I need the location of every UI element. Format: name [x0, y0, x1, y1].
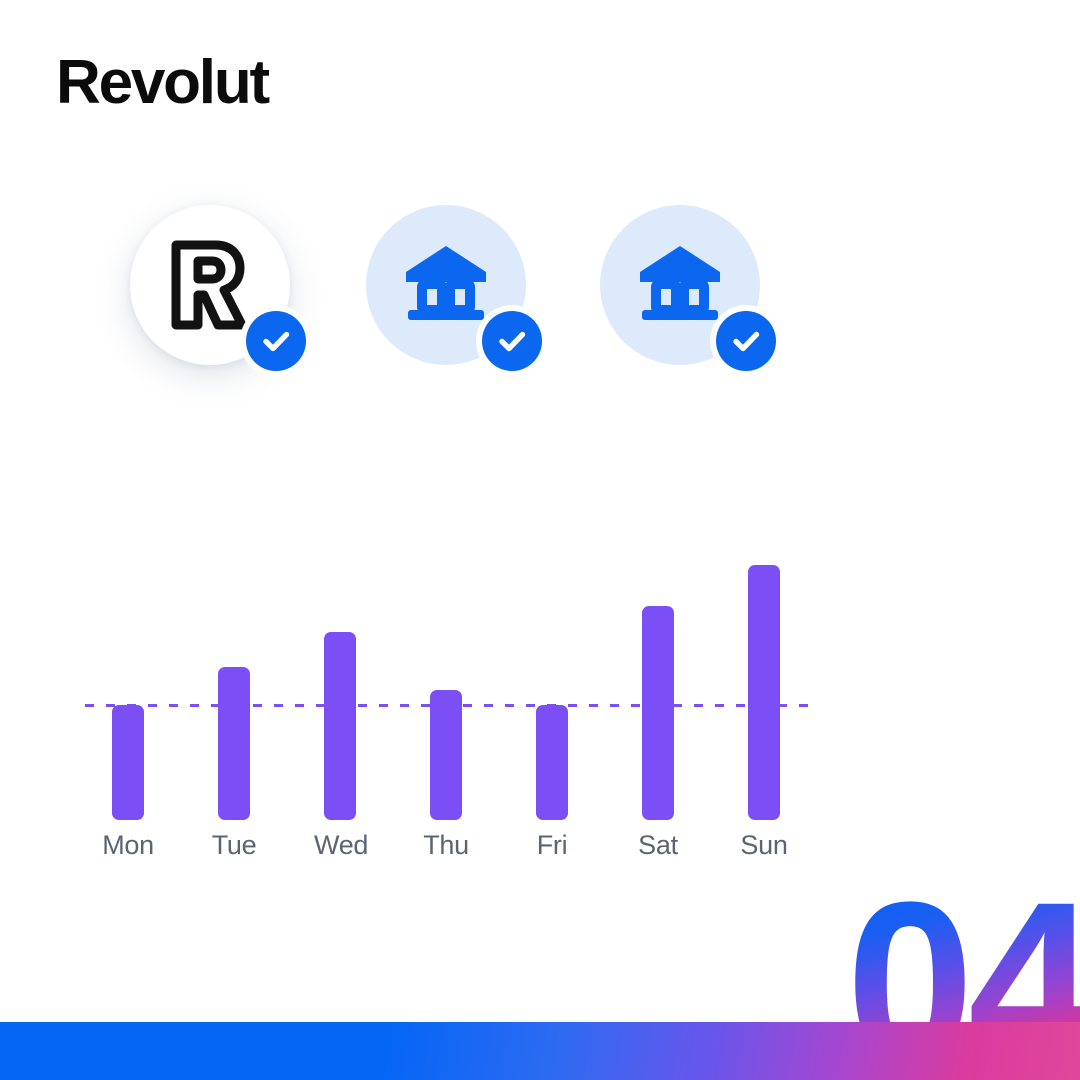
chart-bar-slot — [632, 540, 684, 820]
chart-bar-slot — [102, 540, 154, 820]
chart-x-label: Wed — [314, 830, 366, 861]
chart-plot — [102, 540, 808, 820]
chart-bar-slot — [314, 540, 366, 820]
chart-bar[interactable] — [430, 690, 462, 820]
chart-bar[interactable] — [748, 565, 780, 820]
account-item-bank-2[interactable] — [600, 205, 760, 365]
chart-x-label: Sun — [738, 830, 790, 861]
footer-gradient-band — [0, 1022, 1080, 1080]
bank-icon — [404, 244, 488, 327]
chart-bar-slot — [420, 540, 472, 820]
check-badge-icon — [476, 305, 548, 377]
check-badge-inner — [246, 311, 306, 371]
average-threshold-line — [85, 704, 817, 707]
chart-bar[interactable] — [324, 632, 356, 820]
check-badge-icon — [240, 305, 312, 377]
check-badge-inner — [716, 311, 776, 371]
chart-bar[interactable] — [112, 705, 144, 820]
chart-bar-slot — [526, 540, 578, 820]
chart-bar[interactable] — [642, 606, 674, 820]
chart-x-label: Mon — [102, 830, 154, 861]
check-badge-inner — [482, 311, 542, 371]
chart-bar[interactable] — [536, 705, 568, 820]
chart-x-label: Tue — [208, 830, 260, 861]
chart-bar-slot — [208, 540, 260, 820]
brand-wordmark: Revolut — [56, 52, 268, 114]
chart-x-label: Fri — [526, 830, 578, 861]
linked-accounts-row — [130, 205, 830, 405]
bank-icon — [638, 244, 722, 327]
chart-x-axis: MonTueWedThuFriSatSun — [102, 830, 808, 870]
chart-x-label: Sat — [632, 830, 684, 861]
revolut-r-logo-icon — [168, 239, 252, 331]
check-badge-icon — [710, 305, 782, 377]
chart-area: MonTueWedThuFriSatSun — [85, 540, 825, 885]
chart-bar-slot — [738, 540, 790, 820]
chart-bar[interactable] — [218, 667, 250, 820]
chart-x-label: Thu — [420, 830, 472, 861]
promo-card: Revolut — [0, 0, 1080, 1080]
account-item-bank-1[interactable] — [366, 205, 526, 365]
account-item-revolut[interactable] — [130, 205, 290, 365]
